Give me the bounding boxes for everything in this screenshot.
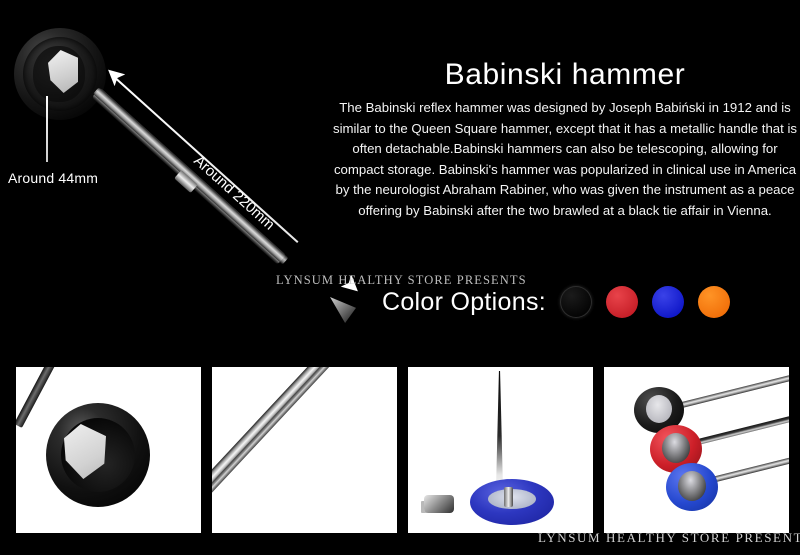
color-options-label: Color Options: (382, 288, 546, 317)
panel4-hole-blue (678, 471, 706, 501)
hammer-handle-tip (330, 297, 356, 323)
hero-section: Around 44mm Around 220mm Babinski hammer… (0, 0, 800, 352)
gallery-panel-color-variants[interactable] (604, 367, 789, 533)
product-description: The Babinski reflex hammer was designed … (332, 98, 798, 222)
color-swatch-blue[interactable] (652, 286, 684, 318)
gallery-panel-blue-hammer[interactable] (408, 367, 593, 533)
panel4-rod-red (689, 405, 789, 447)
color-swatch-red[interactable] (606, 286, 638, 318)
gallery-panel-head-closeup[interactable] (16, 367, 201, 533)
panel3-needle (496, 371, 503, 489)
product-gallery (0, 352, 800, 555)
infographic-page: Around 44mm Around 220mm Babinski hammer… (0, 0, 800, 555)
color-options-row: Color Options: (382, 286, 730, 318)
panel4-hole-black (646, 395, 672, 423)
color-swatch-orange[interactable] (698, 286, 730, 318)
panel4-rod-black (677, 367, 789, 409)
color-swatch-black[interactable] (560, 286, 592, 318)
hammer-head-illustration (14, 28, 106, 120)
page-title: Babinski hammer (330, 58, 800, 92)
panel1-handle (16, 367, 58, 428)
gallery-panel-handle-closeup[interactable] (212, 367, 397, 533)
head-dimension-label: Around 44mm (8, 170, 98, 186)
footer-watermark: LYNSUM HEALTHY STORE PRESENTS (538, 530, 800, 546)
panel3-handle-boss (504, 487, 513, 507)
head-dimension-leader-line (46, 96, 48, 162)
hammer-handle-shaft-sheen (93, 87, 289, 264)
panel4-hole-red (662, 433, 690, 463)
panel3-detached-fitting (424, 495, 454, 513)
panel2-handle-rod (212, 367, 373, 497)
